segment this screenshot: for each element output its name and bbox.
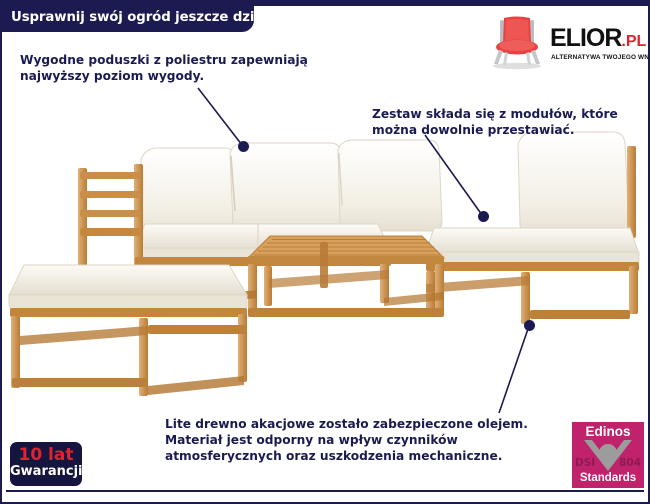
brand-logo[interactable]: ELIOR.PL ALTERNATYWA TWOJEGO WNĘTRZA	[486, 12, 646, 72]
bottom-divider	[6, 490, 644, 492]
sofa-armrest-left	[78, 164, 143, 274]
edinos-left-code: DSI	[575, 457, 595, 469]
red-chair-icon	[486, 14, 548, 70]
warranty-badge: 10 lat Gwarancji	[10, 442, 82, 486]
callout-modules: Zestaw składa się z modułów, które można…	[372, 106, 642, 138]
banner-rule	[254, 2, 648, 6]
callout-dot-cushions	[238, 141, 249, 152]
logo-wordmark: ELIOR.PL	[550, 24, 646, 53]
callout-cushions: Wygodne poduszki z poliestru zapewniają …	[20, 52, 320, 84]
callout-dot-wood	[524, 320, 535, 331]
sofa-module-single	[425, 132, 639, 324]
furniture-photo	[2, 120, 648, 420]
edinos-subtitle: Standards	[572, 473, 644, 485]
logo-brand: ELIOR	[550, 24, 621, 52]
ottoman	[9, 265, 247, 396]
edinos-right-code: 804	[619, 457, 641, 469]
logo-domain: .PL	[621, 33, 646, 50]
callout-wood: Lite drewno akacjowe zostało zabezpieczo…	[165, 416, 565, 465]
edinos-mark: DSI 804	[572, 439, 644, 473]
product-infographic: Usprawnij swój ogród jeszcze dziś! ELIOR…	[0, 0, 650, 504]
edinos-badge: Edinos DSI 804 Standards	[572, 422, 644, 488]
warranty-label: Gwarancji	[10, 465, 82, 478]
logo-tagline: ALTERNATYWA TWOJEGO WNĘTRZA	[551, 54, 650, 61]
headline-text: Usprawnij swój ogród jeszcze dziś!	[2, 10, 268, 25]
edinos-title: Edinos	[572, 422, 644, 439]
callout-dot-modules	[478, 211, 489, 222]
headline-banner: Usprawnij swój ogród jeszcze dziś!	[2, 2, 254, 32]
warranty-years: 10 lat	[10, 447, 82, 464]
